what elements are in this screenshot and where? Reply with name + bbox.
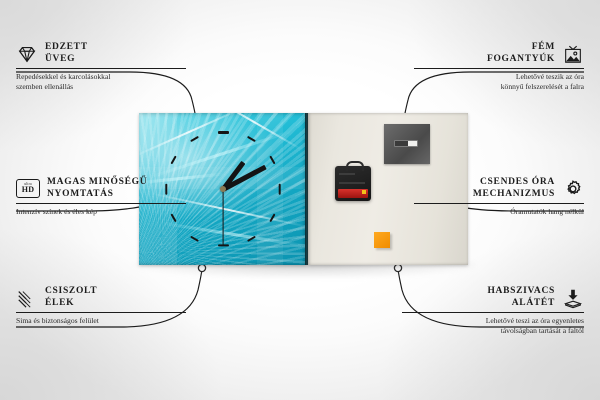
bevel-edges-icon [16, 287, 38, 309]
callout-title-line1: EDZETT [45, 42, 88, 54]
callout-rule [16, 312, 186, 313]
foam-pad [374, 232, 390, 248]
metal-hanger-plate [384, 124, 430, 164]
callout-magas-minosegu-nyomtatas: ultra HD MAGAS MINŐSÉGŰ NYOMTATÁS Intenz… [16, 177, 202, 217]
callout-sub-line2: szemben ellenállás [16, 82, 192, 92]
clock-mechanism [335, 166, 371, 201]
foam-pad-arrow-icon [562, 287, 584, 309]
callout-rule [402, 312, 584, 313]
callout-title-line2: NYOMTATÁS [47, 189, 147, 201]
diamond-icon [16, 43, 38, 65]
callout-title-line2: FOGANTYÚK [487, 54, 555, 66]
callout-fem-fogantyuk: FÉM FOGANTYÚK Lehetővé teszik az óra kön… [408, 42, 584, 91]
callout-rule [16, 68, 186, 69]
clock-tick [170, 156, 176, 165]
callout-rule [16, 203, 186, 204]
callout-sub-line1: Sima és biztonságos felület [16, 316, 202, 326]
callout-sub-line1: Lehetővé teszi az óra egyenletes [394, 316, 584, 326]
clock-tick [247, 236, 256, 242]
callout-title-line1: HABSZIVACS [487, 286, 555, 298]
clock-tick [247, 136, 256, 142]
callout-sub-line2: távolságban tartását a faltól [394, 326, 584, 336]
callout-title-line1: CSENDES ÓRA [473, 177, 555, 189]
clock-tick [218, 131, 229, 133]
infographic-stage: EDZETT ÜVEG Repedésekkel és karcolásokka… [0, 0, 600, 400]
clock-tick [190, 236, 199, 242]
callout-sub-line1: Intenzív színek és éles kép [16, 207, 202, 217]
badge-main-label: HD [22, 186, 35, 194]
callout-title-line1: FÉM [487, 42, 555, 54]
clock-tick [270, 213, 276, 222]
callout-sub-line2: könnyű felszerelését a falra [408, 82, 584, 92]
clock-center-pin [220, 186, 226, 192]
callout-sub-line1: Repedésekkel és karcolásokkal [16, 72, 192, 82]
clock-tick [218, 244, 229, 246]
callout-edzett-uveg: EDZETT ÜVEG Repedésekkel és karcolásokka… [16, 42, 192, 91]
callout-rule [414, 203, 584, 204]
picture-hanger-icon [562, 43, 584, 65]
callout-csendes-ora-mechanizmus: CSENDES ÓRA MECHANIZMUS Óramutatók hang … [398, 177, 584, 217]
callout-title-line2: ÉLEK [45, 298, 97, 310]
callout-title-line2: ALÁTÉT [487, 298, 555, 310]
clock-tick [270, 156, 276, 165]
callout-csiszolt-elek: CSISZOLT ÉLEK Sima és biztonságos felüle… [16, 286, 202, 326]
callout-title-line1: MAGAS MINŐSÉGŰ [47, 177, 147, 189]
clock-second-hand [222, 189, 223, 245]
callout-title-line1: CSISZOLT [45, 286, 97, 298]
callout-sub-line1: Óramutatók hang nélkül [398, 207, 584, 217]
callout-rule [414, 68, 584, 69]
callout-habszivacs-alatet: HABSZIVACS ALÁTÉT Lehetővé teszi az óra … [394, 286, 584, 335]
ultra-hd-badge-icon: ultra HD [16, 179, 40, 198]
callout-title-line2: ÜVEG [45, 54, 88, 66]
callout-title-line2: MECHANIZMUS [473, 189, 555, 201]
callout-sub-line1: Lehetővé teszik az óra [408, 72, 584, 82]
clock-tick [190, 136, 199, 142]
gear-icon [562, 178, 584, 200]
clock-tick [278, 183, 280, 194]
